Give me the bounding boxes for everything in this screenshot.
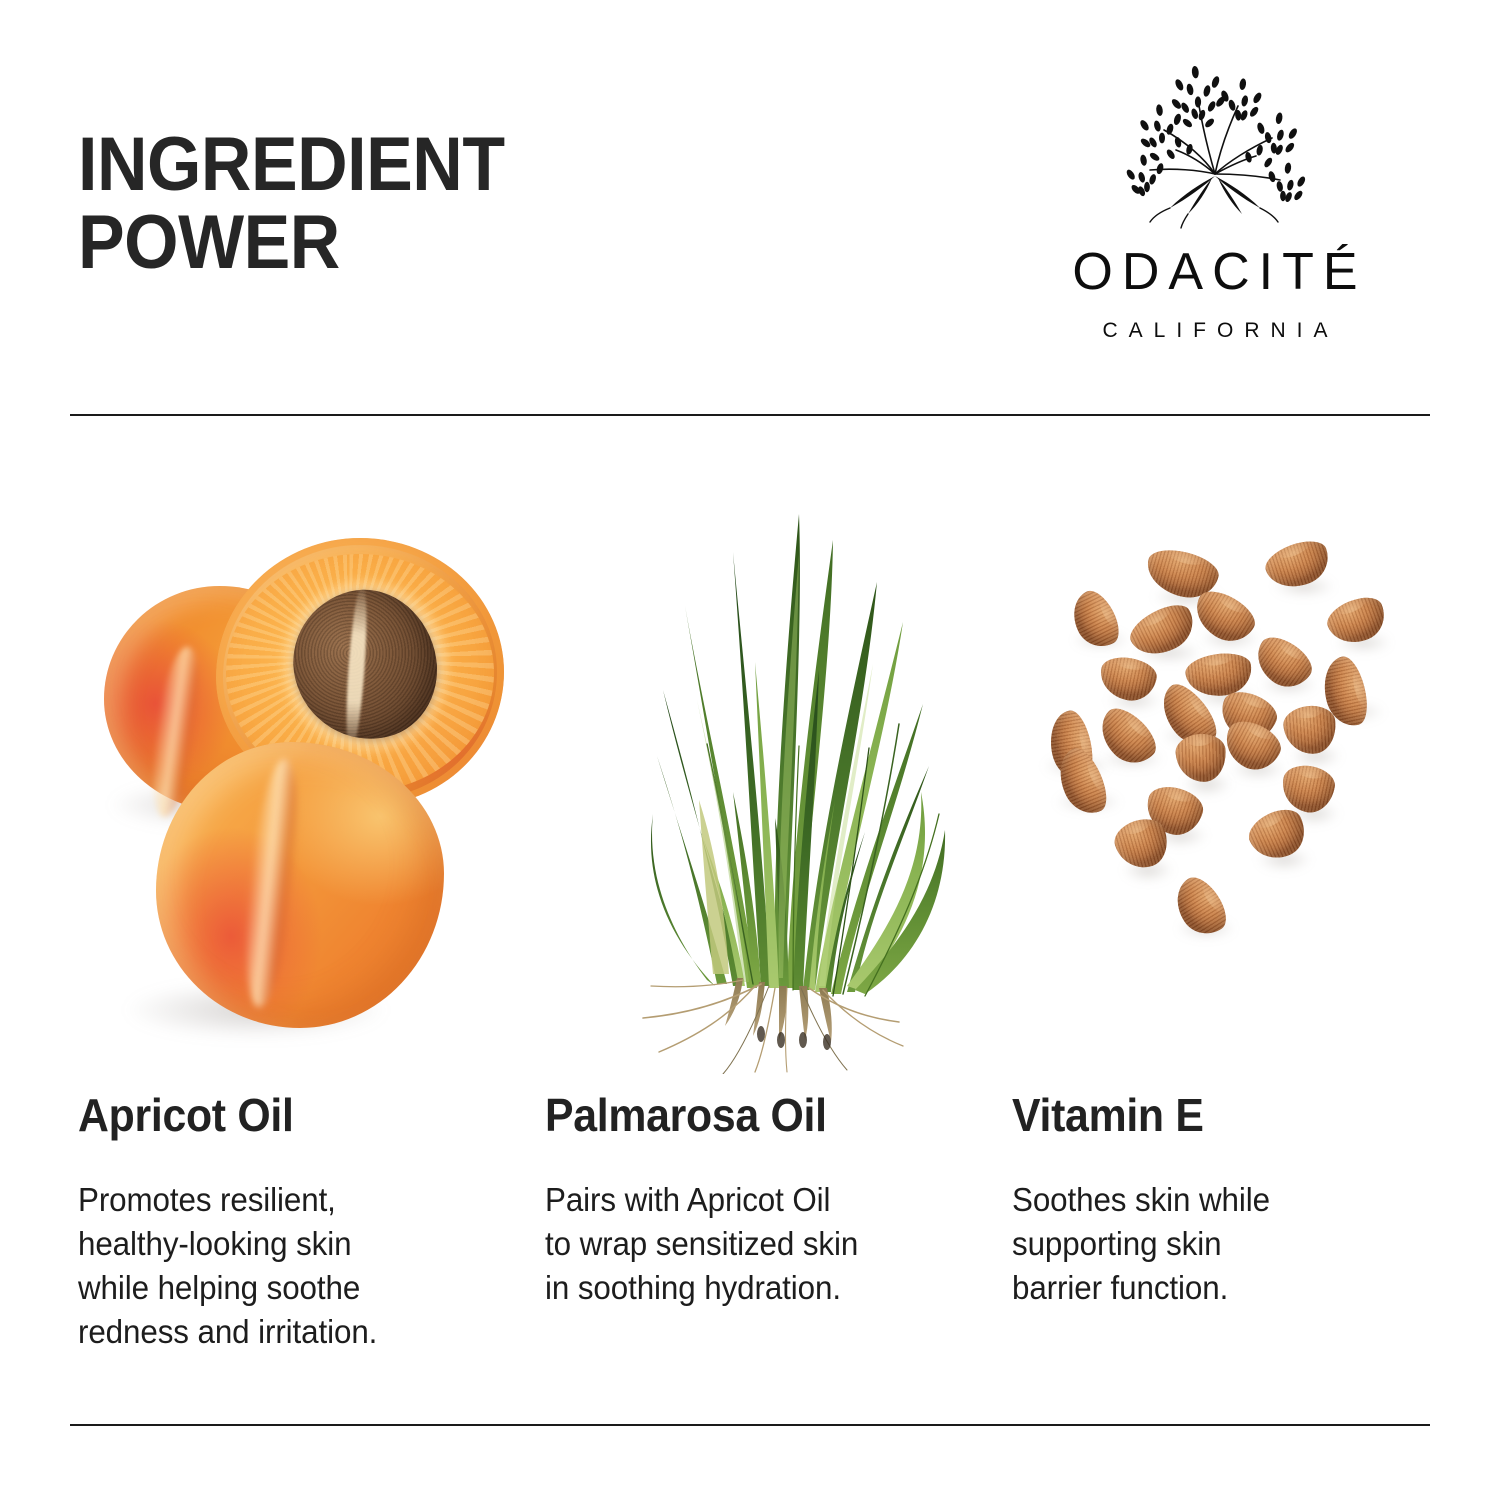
ingredient-column-vitamin-e: Vitamin E Soothes skin while supporting … [994,440,1461,1400]
palmarosa-grass-photo [527,440,994,1070]
ingredient-column-apricot-oil: Apricot Oil Promotes resilient, healthy-… [60,440,527,1400]
ingredient-columns: Apricot Oil Promotes resilient, healthy-… [0,440,1500,1400]
almonds-photo [994,440,1461,1070]
brand-wordmark: ODACITÉ [1000,246,1430,298]
page-title: INGREDIENT POWER [78,126,505,283]
apricot-whole-front [156,742,444,1028]
header: INGREDIENT POWER [0,0,1500,400]
divider-top [70,414,1430,416]
almond [1282,703,1339,756]
ingredient-description: Promotes resilient, healthy-looking skin… [78,1178,496,1354]
umbel-flower-icon [1100,58,1330,238]
brand-tagline: CALIFORNIA [1000,320,1430,341]
ingredient-heading: Palmarosa Oil [545,1092,827,1138]
ingredient-heading: Vitamin E [1012,1092,1204,1138]
apricots-photo [60,440,527,1070]
divider-bottom [70,1424,1430,1426]
ingredient-description: Pairs with Apricot Oil to wrap sensitize… [545,1178,963,1310]
ingredient-description: Soothes skin while supporting skin barri… [1012,1178,1430,1310]
ingredient-heading: Apricot Oil [78,1092,294,1138]
ingredient-power-infographic: INGREDIENT POWER [0,0,1500,1500]
almond [1174,732,1227,783]
ingredient-column-palmarosa-oil: Palmarosa Oil Pairs with Apricot Oil to … [527,440,994,1400]
brand-logo: ODACITÉ CALIFORNIA [1000,58,1430,358]
